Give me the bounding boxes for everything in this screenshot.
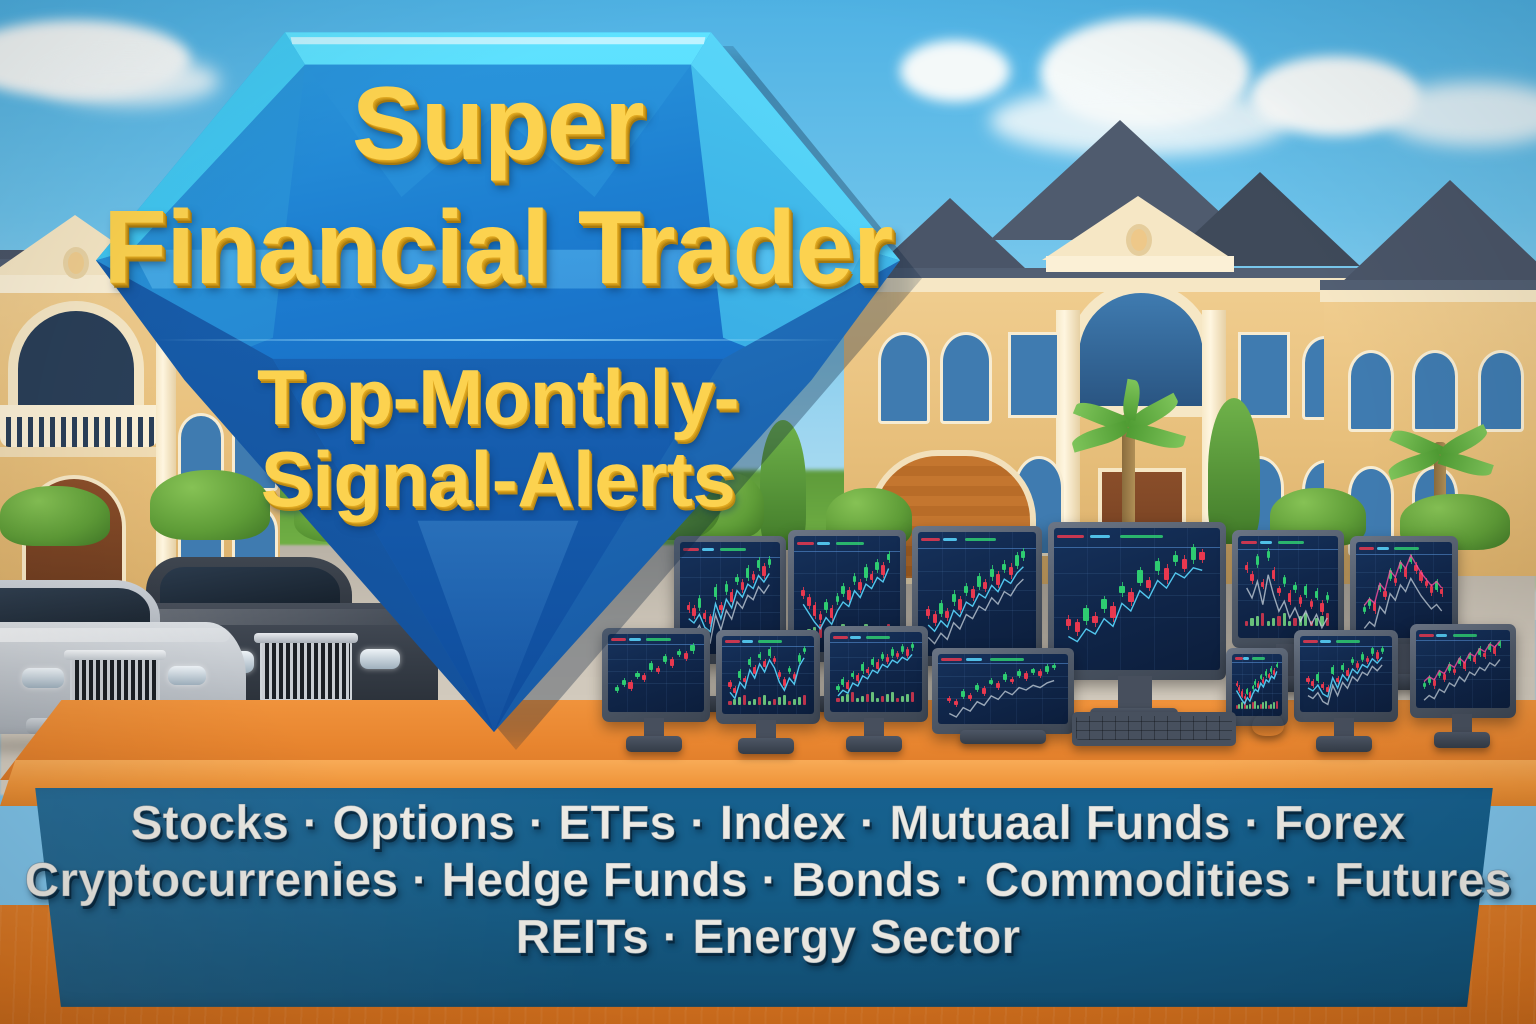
candlestick-wick	[963, 689, 964, 699]
asset-class-line-1: Stocks · Options · ETFs · Index · Mutuaa…	[0, 795, 1536, 852]
monitor-m3	[912, 526, 1042, 666]
volume-bar	[1277, 616, 1280, 626]
sign-subtitle-line-2: Signal-Alerts	[96, 440, 900, 518]
chart-gridline	[918, 590, 1036, 591]
volume-bar	[1273, 702, 1275, 708]
candlestick-wick	[1372, 647, 1373, 656]
candlestick-wick	[1290, 590, 1291, 604]
screen-header-bar	[1057, 535, 1084, 538]
volume-bar	[1268, 705, 1270, 708]
candlestick-wick	[979, 573, 980, 590]
candlestick-wick	[1429, 675, 1430, 685]
volume-bar	[1276, 701, 1278, 709]
candlestick-wick	[935, 611, 936, 626]
chart-gridline-v	[1491, 630, 1492, 708]
screen-header-bar	[1120, 535, 1163, 538]
screen-header-bar	[1278, 541, 1304, 544]
volume-bar	[1252, 702, 1254, 708]
chart-gridline	[1238, 568, 1338, 569]
screen-header-bar	[1252, 657, 1265, 660]
chart-gridline-v	[1337, 636, 1338, 712]
candlestick-wick	[1250, 691, 1251, 700]
candlestick-wick	[1026, 671, 1027, 681]
candlestick-wick	[1442, 587, 1443, 597]
monitor-m12	[1294, 630, 1398, 722]
volume-bar	[1262, 702, 1264, 708]
candlestick-wick	[1343, 663, 1344, 672]
volume-bar	[1245, 621, 1248, 626]
mouse[interactable]	[1252, 712, 1284, 736]
asset-class-line-2: Cryptocurrenies · Hedge Funds · Bonds · …	[0, 852, 1536, 909]
volume-bar	[1254, 701, 1256, 709]
monitor-stand-neck	[1118, 676, 1152, 712]
candlestick-wick	[998, 681, 999, 690]
hero-banner-image: Super Financial Trader Top-Monthly- Sign…	[0, 0, 1536, 1024]
candlestick-wick	[1004, 560, 1005, 573]
candlestick-wick	[1437, 579, 1438, 592]
volume-bar	[1283, 613, 1286, 626]
volume-bar	[906, 694, 909, 702]
candlestick-wick	[1295, 582, 1296, 593]
candlestick-wick	[1390, 568, 1391, 581]
chart-gridline-v	[1375, 542, 1376, 638]
candlestick-wick	[1019, 669, 1020, 678]
monitor-m7-tablet	[932, 648, 1074, 734]
candlestick-wick	[1338, 676, 1339, 684]
candlestick-wick	[1460, 656, 1461, 666]
asset-class-line-3: REITs · Energy Sector	[0, 909, 1536, 966]
candlestick-wick	[1424, 681, 1425, 689]
monitor-m8-large	[1048, 522, 1226, 680]
candlestick-wick	[1333, 665, 1334, 676]
chart-gridline-v	[1355, 636, 1356, 712]
candlestick-wick	[1406, 566, 1407, 579]
chart-screen	[1300, 636, 1392, 712]
volume-bar	[1299, 616, 1302, 626]
asset-class-list: Stocks · Options · ETFs · Index · Mutuaa…	[0, 795, 1536, 966]
chart-gridline-v	[1016, 654, 1017, 724]
candlestick-wick	[1266, 669, 1267, 678]
chart-gridline-v	[989, 532, 990, 656]
chart-gridline	[938, 698, 1068, 699]
chart-gridline	[1232, 693, 1282, 694]
candlestick-wick	[1054, 663, 1055, 670]
candlestick-wick	[1313, 679, 1314, 688]
candlestick-wick	[1247, 562, 1248, 573]
candlestick-wick	[1357, 661, 1358, 670]
candlestick-wick	[1485, 651, 1486, 659]
volume-bar	[1238, 704, 1240, 709]
screen-header-bar	[1320, 640, 1331, 643]
volume-bar	[1265, 701, 1267, 709]
volume-bar	[1236, 705, 1238, 708]
monitor-stand-base	[846, 736, 902, 752]
candlestick-wick	[966, 583, 967, 596]
candlestick-wick	[1300, 595, 1301, 607]
candlestick-wick	[1400, 560, 1401, 572]
screen-header-bar	[966, 658, 982, 661]
candlestick-wick	[1465, 660, 1466, 671]
candlestick-wick	[1253, 685, 1254, 691]
screen-header-bar	[1260, 541, 1272, 544]
candlestick-wick	[1175, 551, 1176, 566]
keyboard[interactable]	[1072, 712, 1236, 746]
volume-bar	[1244, 701, 1246, 709]
candlestick-wick	[992, 565, 993, 580]
chart-gridline-v	[1120, 528, 1121, 670]
candlestick-wick	[1252, 571, 1253, 583]
candlestick-wick	[1017, 552, 1018, 569]
chart-gridline-v	[942, 532, 943, 656]
candlestick-wick	[1348, 668, 1349, 679]
candlestick-wick	[1431, 584, 1432, 596]
candlestick-wick	[1284, 575, 1285, 587]
candlestick-wick	[1434, 678, 1435, 689]
candlestick-wick	[1421, 570, 1422, 583]
candlestick-wick	[1490, 642, 1491, 652]
candlestick-wick	[1322, 600, 1323, 614]
candlestick-wick	[1005, 672, 1006, 682]
volume-bar	[1320, 616, 1323, 626]
candlestick-wick	[1077, 619, 1078, 636]
chart-gridline-v	[1154, 528, 1155, 670]
candlestick-wick	[960, 596, 961, 613]
candlestick-wick	[1149, 577, 1150, 592]
candlestick-wick	[1167, 564, 1168, 584]
candlestick-wick	[1475, 655, 1476, 665]
candlestick-wick	[1122, 582, 1123, 597]
candlestick-wick	[1245, 694, 1246, 700]
candlestick-wick	[1104, 596, 1105, 613]
candlestick-wick	[928, 606, 929, 619]
candlestick-wick	[1140, 567, 1141, 587]
candlestick-wick	[1352, 657, 1353, 665]
chart-gridline-v	[990, 654, 991, 724]
candlestick-wick	[1047, 664, 1048, 674]
candlestick-wick	[1444, 672, 1445, 682]
keyboard-keys	[1076, 716, 1232, 740]
candlestick-wick	[956, 699, 957, 708]
candlestick-wick	[1328, 685, 1329, 694]
cloud-3	[900, 40, 1010, 102]
candlestick-wick	[1184, 555, 1185, 572]
candlestick-wick	[1158, 558, 1159, 575]
candlestick-wick	[1362, 652, 1363, 663]
volume-bar	[1304, 613, 1307, 626]
screen-header-bar	[1377, 547, 1389, 550]
chart-gridline-v	[1187, 528, 1188, 670]
chart-gridline	[1054, 595, 1220, 596]
candlestick-wick	[1377, 650, 1378, 661]
candlestick-wick	[1480, 646, 1481, 657]
volume-bar	[1256, 616, 1259, 626]
screen-header-bar	[941, 658, 962, 661]
candlestick-wick	[1086, 605, 1087, 625]
candlestick-wick	[1380, 583, 1381, 593]
chart-gridline	[918, 571, 1036, 572]
candlestick-wick	[1323, 682, 1324, 690]
candlestick-wick	[1113, 602, 1114, 622]
candlestick-wick	[1411, 554, 1412, 564]
sign-title-line-2: Financial Trader	[96, 196, 900, 300]
candlestick-wick	[1318, 672, 1319, 683]
sign-title-line-1: Super	[96, 72, 900, 176]
candlestick-wick	[1023, 548, 1024, 561]
chart-screen	[1054, 528, 1220, 670]
chart-screen	[1416, 630, 1510, 708]
dashboard-screen	[938, 654, 1068, 724]
chart-gridline	[918, 610, 1036, 611]
chart-gridline-v	[1087, 528, 1088, 670]
candlestick-wick	[907, 647, 908, 658]
volume-bar	[1250, 618, 1253, 626]
candlestick-wick	[1306, 584, 1307, 598]
screen-header-bar	[1419, 634, 1434, 637]
candlestick-wick	[1095, 612, 1096, 627]
chart-screen	[1238, 536, 1338, 638]
candlestick-wick	[1257, 554, 1258, 568]
candlestick-wick	[1263, 677, 1264, 685]
monitor-stand-base	[1434, 732, 1490, 748]
candlestick-wick	[1416, 562, 1417, 574]
candlestick-wick	[1500, 640, 1501, 648]
sign-subtitle-line-1: Top-Monthly-	[96, 358, 900, 436]
candlestick-wick	[1385, 588, 1386, 600]
screen-header-bar	[965, 538, 996, 541]
candlestick-wick	[941, 600, 942, 617]
monitor-stand-base	[1316, 736, 1372, 752]
candlestick-wick	[1269, 673, 1270, 679]
candlestick-wick	[1202, 549, 1203, 564]
candlestick-wick	[1131, 588, 1132, 605]
volume-bar	[1249, 704, 1251, 709]
candlestick-wick	[998, 571, 999, 588]
chart-gridline	[1054, 617, 1220, 618]
volume-bar	[911, 692, 914, 702]
candlestick-wick	[1033, 668, 1034, 675]
gem-sign-text: Super Financial Trader Top-Monthly- Sign…	[96, 28, 900, 732]
palm-tree-1	[1084, 368, 1174, 548]
chart-gridline-v	[1435, 630, 1436, 708]
chart-gridline-v	[1394, 542, 1395, 638]
candlestick-wick	[902, 644, 903, 654]
screen-header-bar	[1090, 535, 1110, 538]
candlestick-wick	[1277, 662, 1278, 668]
candlestick-wick	[1426, 578, 1427, 588]
candlestick-wick	[954, 590, 955, 605]
candlestick-wick	[973, 586, 974, 601]
screen-header-bar	[990, 658, 1024, 661]
candlestick-wick	[970, 693, 971, 700]
screen-header-bar	[1394, 547, 1419, 550]
shrub-8	[0, 486, 110, 546]
chart-screen	[918, 532, 1036, 656]
candlestick-wick	[1311, 599, 1312, 610]
candlestick-wick	[1263, 579, 1264, 590]
candlestick-wick	[991, 678, 992, 685]
screen-header-bar	[1436, 634, 1447, 637]
candlestick-wick	[1327, 592, 1328, 603]
chart-screen	[1232, 654, 1282, 716]
tablet-stand-base	[960, 730, 1046, 744]
candlestick-wick	[1308, 676, 1309, 684]
volume-bar	[1241, 702, 1243, 708]
chart-overlay-line	[938, 654, 1068, 724]
candlestick-wick	[1274, 567, 1275, 581]
candlestick-wick	[984, 686, 985, 696]
volume-bar	[1310, 621, 1313, 626]
candlestick-wick	[1369, 597, 1370, 609]
chart-gridline	[1300, 660, 1392, 661]
candlestick-wick	[1242, 689, 1243, 698]
chart-gridline-v	[1374, 636, 1375, 712]
candlestick-wick	[1258, 681, 1259, 690]
screen-header-bar	[1359, 547, 1374, 550]
chart-gridline-v	[1318, 536, 1319, 638]
candlestick-wick	[977, 683, 978, 692]
candlestick-wick	[1375, 600, 1376, 613]
screen-header-bar	[1303, 640, 1318, 643]
screen-header-bar	[1453, 634, 1477, 637]
candlestick-wick	[1495, 645, 1496, 656]
screen-header-bar	[921, 538, 940, 541]
candlestick-wick	[1395, 576, 1396, 586]
candlestick-wick	[1279, 586, 1280, 597]
candlestick-wick	[1193, 544, 1194, 564]
chart-gridline-v	[1472, 630, 1473, 708]
monitor-stand-base	[626, 736, 682, 752]
candlestick-wick	[1012, 677, 1013, 684]
volume-bar	[1267, 621, 1270, 626]
volume-bar	[1261, 613, 1264, 626]
screen-header-bar	[943, 538, 957, 541]
chart-gridline-v	[1012, 532, 1013, 656]
candlestick-wick	[1470, 652, 1471, 660]
candlestick-wick	[912, 642, 913, 650]
volume-bar	[1272, 618, 1275, 626]
screen-header-bar	[1241, 541, 1257, 544]
monitor-stand-base	[738, 738, 794, 754]
screen-header-bar	[1243, 657, 1249, 660]
volume-bar	[1293, 618, 1296, 626]
candlestick-wick	[985, 579, 986, 592]
monitor-m11	[1410, 624, 1516, 718]
candlestick-wick	[1364, 604, 1365, 614]
volume-bar	[1246, 705, 1248, 708]
candlestick-wick	[1454, 667, 1455, 675]
chart-gridline	[1416, 655, 1510, 656]
volume-bar	[1260, 704, 1262, 709]
chart-gridline	[1238, 584, 1338, 585]
candlestick-wick	[1011, 563, 1012, 578]
candlestick-wick	[1439, 670, 1440, 678]
chart-overlay-line	[918, 532, 1036, 656]
chart-gridline-v	[1042, 654, 1043, 724]
volume-bar	[1326, 613, 1329, 626]
chart-gridline	[938, 687, 1068, 688]
volume-bar	[1315, 618, 1318, 626]
candlestick-wick	[1068, 615, 1069, 630]
diamond-logo-sign[interactable]: Super Financial Trader Top-Monthly- Sign…	[96, 28, 900, 732]
candlestick-wick	[1317, 588, 1318, 600]
candlestick-wick	[949, 696, 950, 703]
candlestick-wick	[1268, 548, 1269, 560]
screen-header-bar	[1336, 640, 1360, 643]
candlestick-wick	[1382, 646, 1383, 654]
candlestick-wick	[1274, 668, 1275, 677]
candlestick-wick	[1040, 669, 1041, 678]
volume-bar	[901, 696, 904, 702]
candlestick-wick	[1367, 656, 1368, 664]
candlestick-wick	[947, 608, 948, 621]
candlestick-wick	[1449, 662, 1450, 673]
volume-bar	[1257, 705, 1259, 708]
volume-bar	[1288, 621, 1291, 626]
